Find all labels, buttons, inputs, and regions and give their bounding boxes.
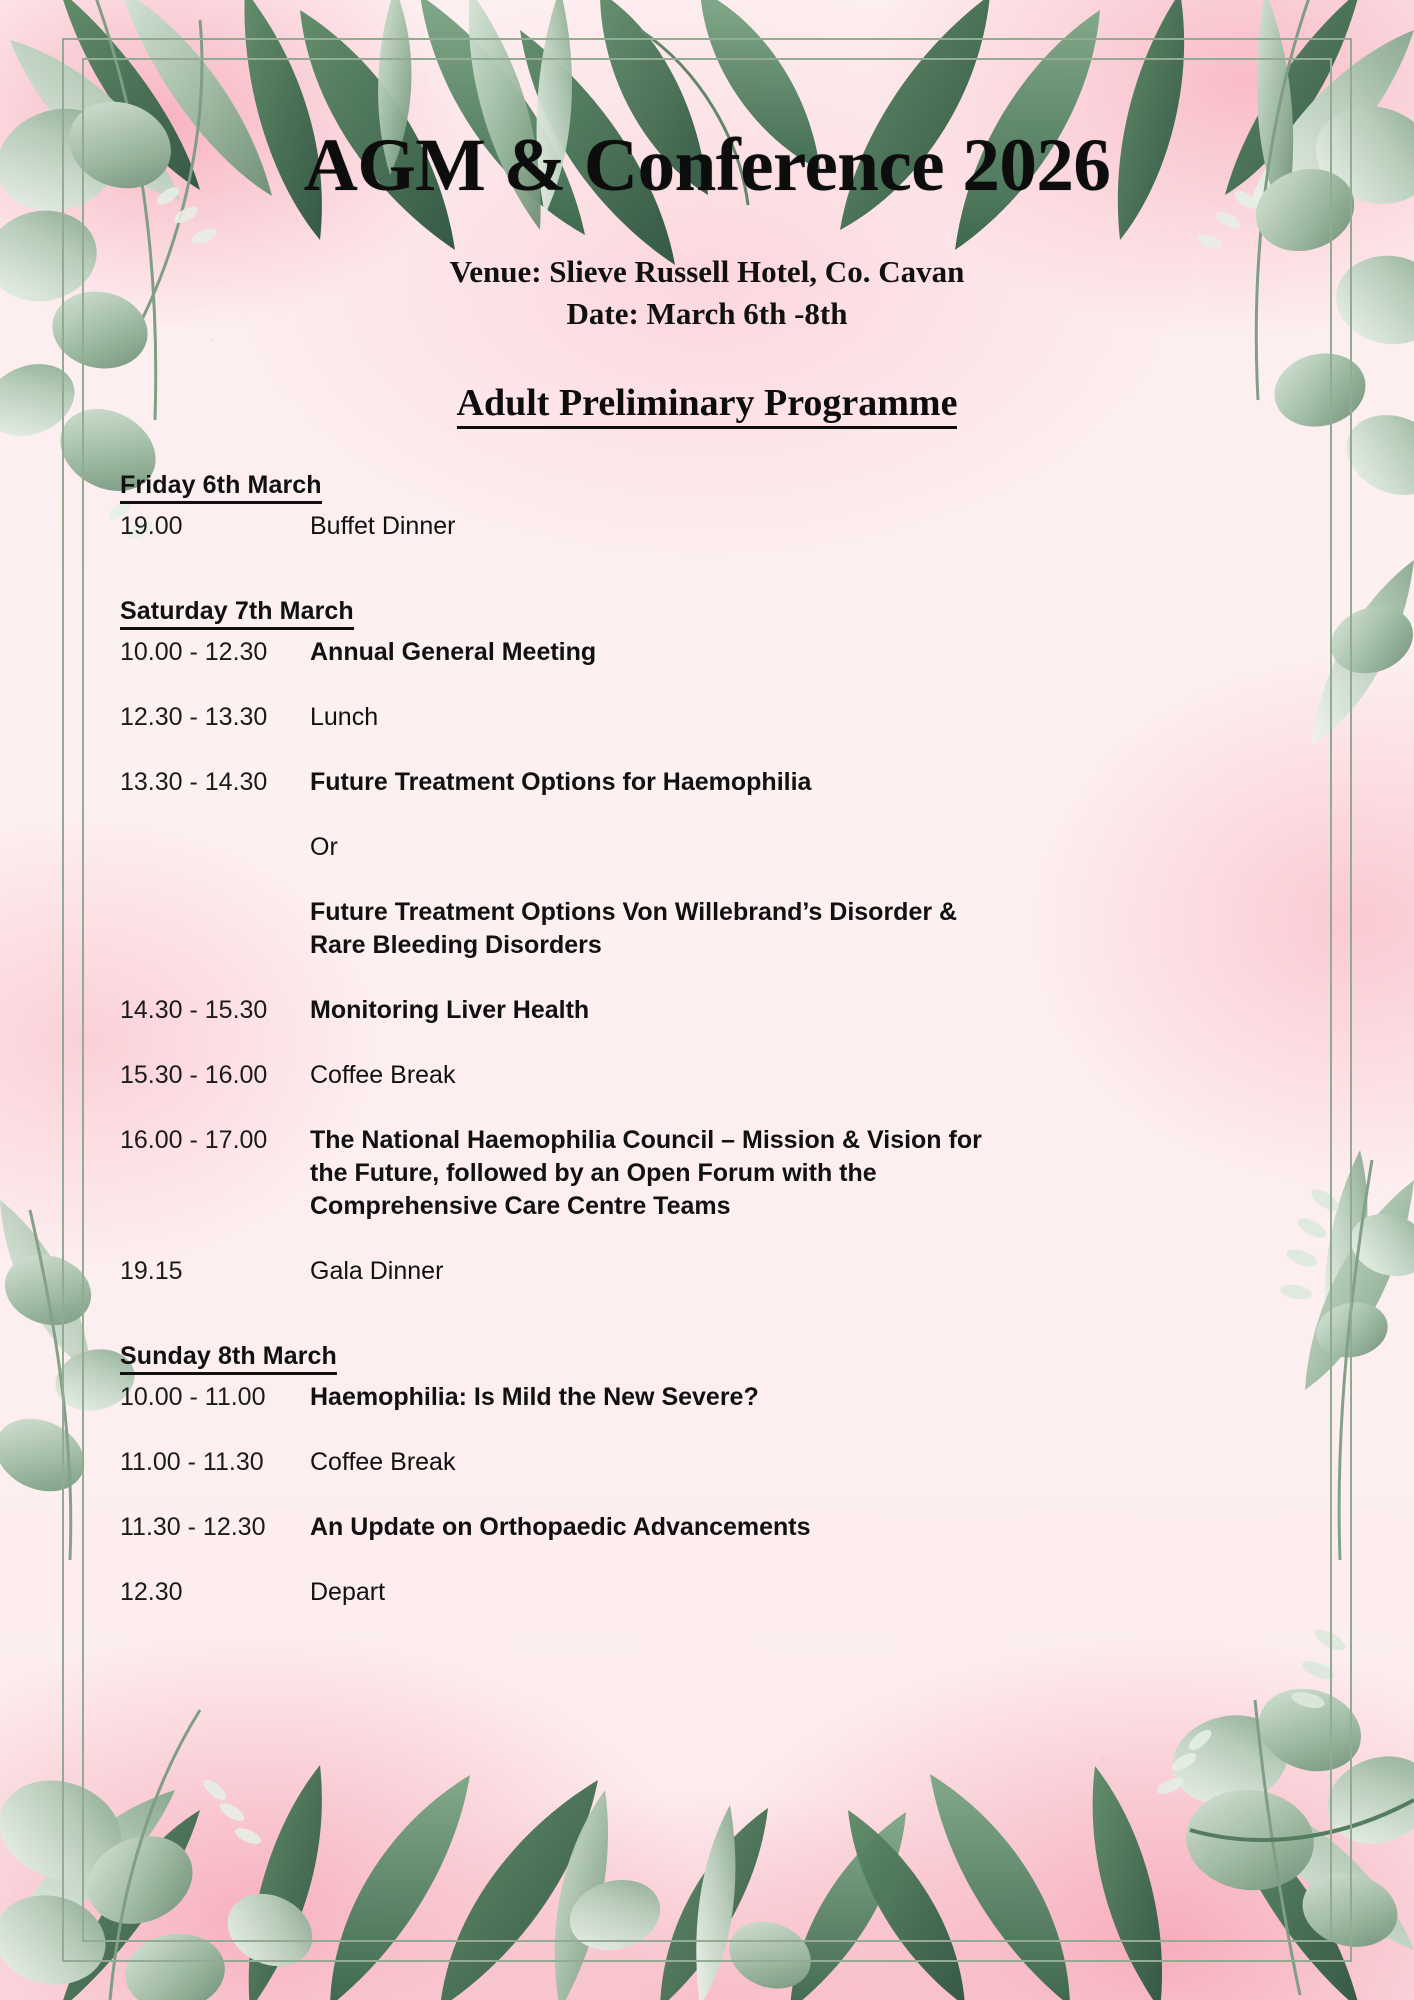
day-heading: Saturday 7th March: [120, 597, 354, 630]
session-time: 19.15: [120, 1255, 310, 1288]
session-time: 14.30 - 15.30: [120, 994, 310, 1027]
day-spacer: [120, 575, 1294, 597]
programme-row: 11.30 - 12.30An Update on Orthopaedic Ad…: [120, 1511, 1294, 1544]
programme-rows: 19.00Buffet Dinner: [120, 510, 1294, 543]
session-description: Coffee Break: [310, 1446, 1010, 1479]
day-heading: Friday 6th March: [120, 471, 322, 504]
programme-row: 15.30 - 16.00Coffee Break: [120, 1059, 1294, 1092]
programme-row: 16.00 - 17.00The National Haemophilia Co…: [120, 1124, 1294, 1223]
programme-section-title: Adult Preliminary Programme: [120, 381, 1294, 425]
programme-row: Or: [120, 831, 1294, 864]
programme-row: 11.00 - 11.30Coffee Break: [120, 1446, 1294, 1479]
session-time: 15.30 - 16.00: [120, 1059, 310, 1092]
session-description: Coffee Break: [310, 1059, 1010, 1092]
session-description: Depart: [310, 1576, 1010, 1609]
programme-row: 10.00 - 12.30Annual General Meeting: [120, 636, 1294, 669]
programme-schedule: Friday 6th March19.00Buffet DinnerSaturd…: [120, 471, 1294, 1609]
session-description: Haemophilia: Is Mild the New Severe?: [310, 1381, 1010, 1414]
session-description: Or: [310, 831, 1010, 864]
session-time: 11.30 - 12.30: [120, 1511, 310, 1544]
programme-day: Saturday 7th March10.00 - 12.30Annual Ge…: [120, 597, 1294, 1288]
programme-rows: 10.00 - 11.00Haemophilia: Is Mild the Ne…: [120, 1381, 1294, 1609]
programme-row: Future Treatment Options Von Willebrand’…: [120, 896, 1294, 962]
programme-row: 12.30 - 13.30Lunch: [120, 701, 1294, 734]
venue-line: Venue: Slieve Russell Hotel, Co. Cavan: [120, 251, 1294, 293]
page-title: AGM & Conference 2026: [120, 0, 1294, 203]
programme-row: 12.30Depart: [120, 1576, 1294, 1609]
programme-row: 13.30 - 14.30Future Treatment Options fo…: [120, 766, 1294, 799]
session-time: 11.00 - 11.30: [120, 1446, 310, 1479]
session-time: 16.00 - 17.00: [120, 1124, 310, 1157]
programme-row: 19.00Buffet Dinner: [120, 510, 1294, 543]
session-time: 10.00 - 12.30: [120, 636, 310, 669]
day-spacer: [120, 1320, 1294, 1342]
session-time: 10.00 - 11.00: [120, 1381, 310, 1414]
session-time: 19.00: [120, 510, 310, 543]
session-description: The National Haemophilia Council – Missi…: [310, 1124, 1010, 1223]
session-time: 12.30 - 13.30: [120, 701, 310, 734]
session-description: Future Treatment Options for Haemophilia: [310, 766, 1010, 799]
session-description: Annual General Meeting: [310, 636, 1010, 669]
conference-programme-poster: AGM & Conference 2026 Venue: Slieve Russ…: [0, 0, 1414, 2000]
programme-rows: 10.00 - 12.30Annual General Meeting12.30…: [120, 636, 1294, 1288]
programme-day: Sunday 8th March10.00 - 11.00Haemophilia…: [120, 1342, 1294, 1609]
programme-row: 14.30 - 15.30Monitoring Liver Health: [120, 994, 1294, 1027]
session-description: An Update on Orthopaedic Advancements: [310, 1511, 1010, 1544]
day-heading: Sunday 8th March: [120, 1342, 337, 1375]
session-description: Monitoring Liver Health: [310, 994, 1010, 1027]
session-time: 12.30: [120, 1576, 310, 1609]
poster-content: AGM & Conference 2026 Venue: Slieve Russ…: [0, 0, 1414, 1641]
session-description: Gala Dinner: [310, 1255, 1010, 1288]
session-time: 13.30 - 14.30: [120, 766, 310, 799]
programme-section-title-text: Adult Preliminary Programme: [457, 382, 958, 429]
programme-row: 19.15Gala Dinner: [120, 1255, 1294, 1288]
session-description: Lunch: [310, 701, 1010, 734]
programme-row: 10.00 - 11.00Haemophilia: Is Mild the Ne…: [120, 1381, 1294, 1414]
session-description: Future Treatment Options Von Willebrand’…: [310, 896, 1010, 962]
programme-day: Friday 6th March19.00Buffet Dinner: [120, 471, 1294, 543]
session-description: Buffet Dinner: [310, 510, 1010, 543]
date-line: Date: March 6th -8th: [120, 293, 1294, 335]
